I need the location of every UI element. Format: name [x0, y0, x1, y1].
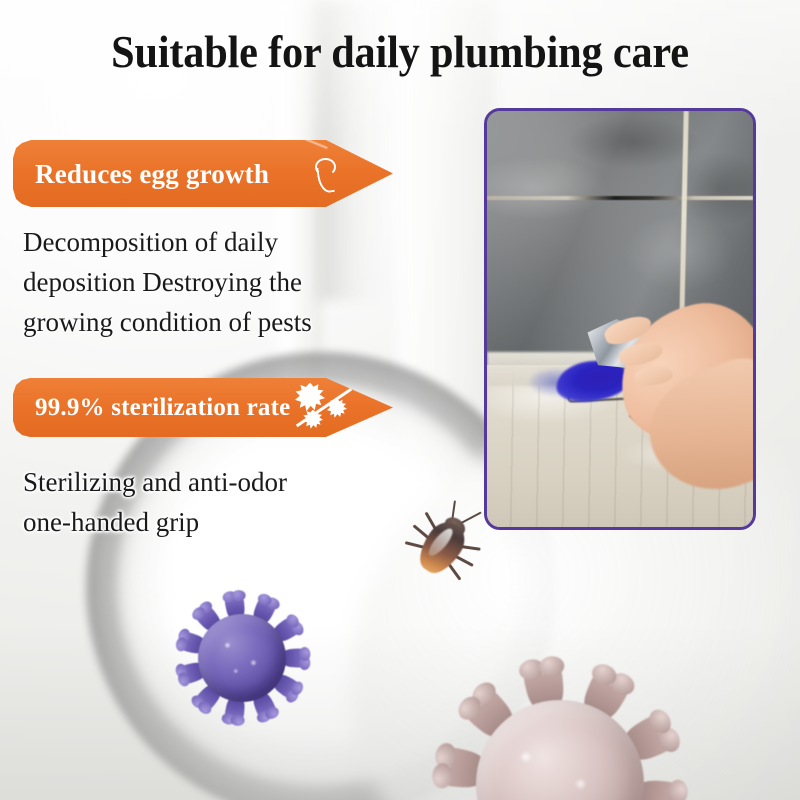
- feature-description-line: growing condition of pests: [23, 302, 353, 342]
- feature-description-line: deposition Destroying the: [23, 262, 353, 302]
- feature-description-line: Sterilizing and anti-odor: [23, 462, 353, 502]
- photo-grout-horizontal: [487, 196, 753, 200]
- virus-particle-purple: [172, 588, 312, 728]
- larva-icon: [309, 154, 343, 194]
- feature-banner-label: 99.9% sterilization rate: [35, 393, 290, 423]
- virus-spike: [637, 779, 686, 800]
- feature-banner-sterilization-rate: 99.9% sterilization rate: [13, 378, 393, 437]
- page-title: Suitable for daily plumbing care: [24, 26, 776, 78]
- feature-banner-reduces-egg-growth: Reduces egg growth: [13, 140, 393, 207]
- feature-description-1: Decomposition of daily deposition Destro…: [23, 222, 353, 342]
- drain-cleaning-demo-photo: [484, 108, 756, 530]
- feature-description-2: Sterilizing and anti-odor one-handed gri…: [23, 462, 353, 542]
- germ-icon: [293, 382, 357, 434]
- virus-particle-large: [424, 648, 696, 800]
- feature-description-line: one-handed grip: [23, 502, 353, 542]
- feature-description-line: Decomposition of daily: [23, 222, 353, 262]
- feature-banner-label: Reduces egg growth: [35, 159, 269, 189]
- product-feature-poster: Suitable for daily plumbing care Reduces…: [0, 0, 800, 800]
